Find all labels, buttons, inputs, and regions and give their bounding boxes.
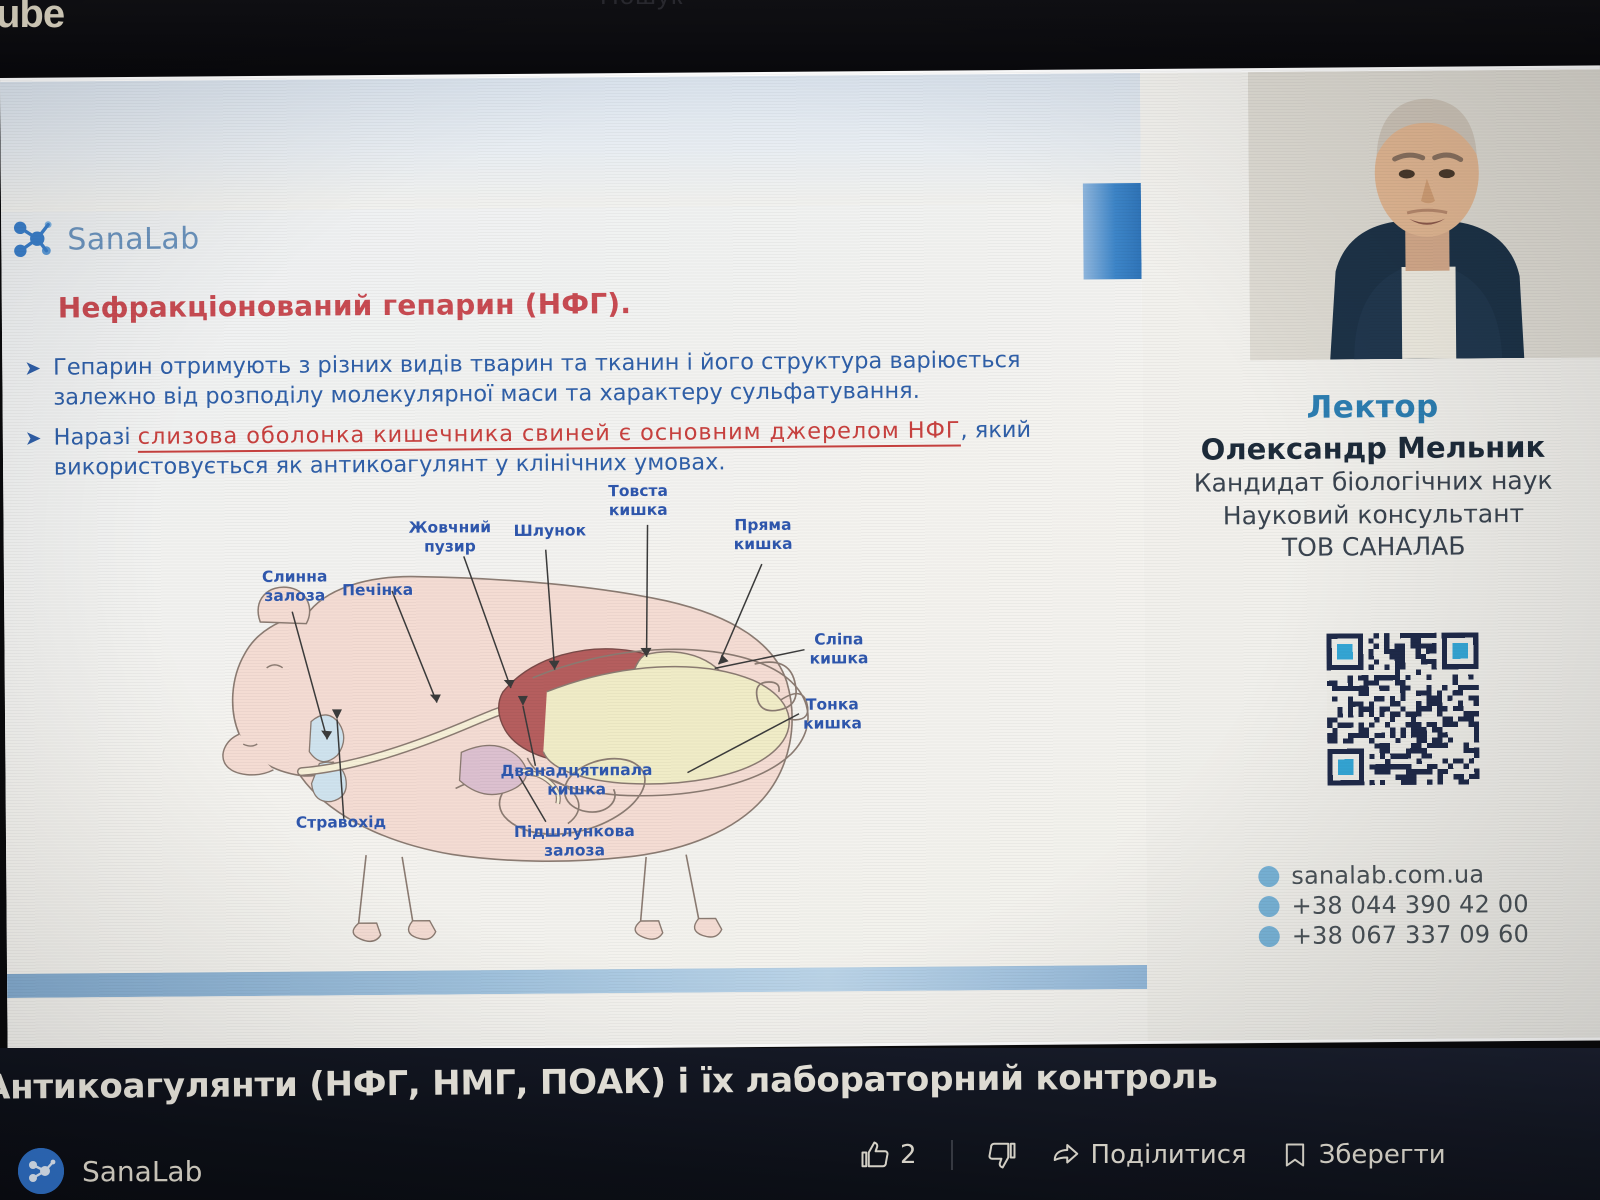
lecturer-company: ТОВ САНАЛАБ [1144, 530, 1600, 564]
diagram-label-small-intestine: Тонкакишка [803, 695, 862, 733]
diagram-label-esophagus: Стравохід [296, 813, 386, 833]
plain-text: Гепарин отримують з різних видів тварин … [53, 347, 1021, 411]
presentation-slide: SanaLab Нефракціонований гепарин (НФГ). … [0, 73, 1148, 1050]
diagram-label-salivary-gland: Слинназалоза [262, 567, 328, 605]
slide-title: Нефракціонований гепарин (НФГ). [58, 287, 632, 325]
save-button[interactable]: Зберегти [1281, 1140, 1446, 1170]
diagram-label-stomach: Шлунок [514, 521, 587, 540]
bullet-item: ➤ Гепарин отримують з різних видів твари… [24, 345, 1084, 413]
video-action-bar: 2 Поділитися Зберегти [860, 1140, 1446, 1170]
dislike-button[interactable] [987, 1140, 1017, 1170]
globe-icon [1258, 865, 1279, 886]
contact-row: +38 067 337 09 60 [1259, 919, 1600, 950]
screen-photo: ube Пошук SanaLab [0, 0, 1600, 1200]
contact-phone-1[interactable]: +38 044 390 42 00 [1291, 890, 1528, 920]
avatar[interactable] [18, 1148, 64, 1194]
channel-row[interactable]: SanaLab [18, 1148, 202, 1194]
youtube-logo[interactable]: ube [0, 0, 64, 34]
like-count: 2 [900, 1140, 917, 1170]
slide-top-wash [0, 73, 1141, 212]
bookmark-icon [1281, 1140, 1309, 1170]
molecule-icon [13, 218, 53, 262]
webcam-video[interactable] [1248, 69, 1600, 360]
diagram-label-rectum: Прямакишка [733, 516, 792, 554]
plain-text: Наразі [53, 424, 137, 451]
phone-icon [1259, 925, 1280, 946]
search-input[interactable]: Пошук [600, 0, 683, 11]
sanalab-logo: SanaLab [13, 216, 200, 261]
sanalab-logo-text: SanaLab [67, 221, 200, 257]
contact-row: sanalab.com.ua [1258, 859, 1600, 890]
contact-phone-2[interactable]: +38 067 337 09 60 [1292, 920, 1529, 950]
thumbs-up-icon [860, 1140, 890, 1170]
qr-code[interactable] [1326, 632, 1479, 785]
pig-digestive-system-diagram: СлинназалозаПечінкаЖовчнийпузирШлунокТов… [213, 467, 957, 948]
bullet-arrow-icon: ➤ [25, 424, 42, 484]
bullet-text: Гепарин отримують з різних видів тварин … [53, 345, 1085, 413]
highlighted-text: слизова оболонка кишечника свиней є осно… [138, 417, 961, 452]
diagram-label-cecum: Сліпакишка [809, 630, 868, 668]
contact-list: sanalab.com.ua +38 044 390 42 00 +38 067… [1258, 859, 1600, 952]
action-divider [951, 1140, 953, 1170]
share-button[interactable]: Поділитися [1051, 1140, 1247, 1170]
lecturer-name: Олександр Мельник [1143, 429, 1600, 467]
lecturer-panel: Лектор Олександр Мельник Кандидат біолог… [1140, 69, 1600, 1041]
diagram-label-liver: Печінка [342, 581, 413, 600]
channel-name[interactable]: SanaLab [82, 1155, 202, 1188]
save-label: Зберегти [1319, 1140, 1446, 1170]
phone-icon [1258, 895, 1279, 916]
diagram-label-large-intestine: Товстакишка [608, 482, 668, 520]
slide-accent-bar-top [1083, 183, 1142, 279]
video-player-surface[interactable]: SanaLab Нефракціонований гепарин (НФГ). … [0, 65, 1600, 1053]
share-label: Поділитися [1091, 1140, 1247, 1170]
diagram-label-duodenum: Дванадцятипалакишка [500, 761, 652, 800]
thumbs-down-icon [987, 1140, 1017, 1170]
share-icon [1051, 1140, 1081, 1170]
contact-row: +38 044 390 42 00 [1258, 889, 1600, 920]
bullet-arrow-icon: ➤ [24, 354, 41, 414]
lecturer-position: Науковий консультант [1143, 498, 1600, 532]
lecturer-info: Лектор Олександр Мельник Кандидат біолог… [1142, 387, 1600, 564]
contact-website[interactable]: sanalab.com.ua [1291, 860, 1484, 890]
diagram-label-pancreas: Підшлунковазалоза [514, 822, 635, 861]
diagram-label-gallbladder: Жовчнийпузир [408, 518, 491, 556]
like-button[interactable]: 2 [860, 1140, 917, 1170]
slide-footer [7, 989, 1147, 1050]
lecturer-role-label: Лектор [1142, 387, 1600, 427]
lecturer-degree: Кандидат біологічних наук [1143, 465, 1600, 499]
